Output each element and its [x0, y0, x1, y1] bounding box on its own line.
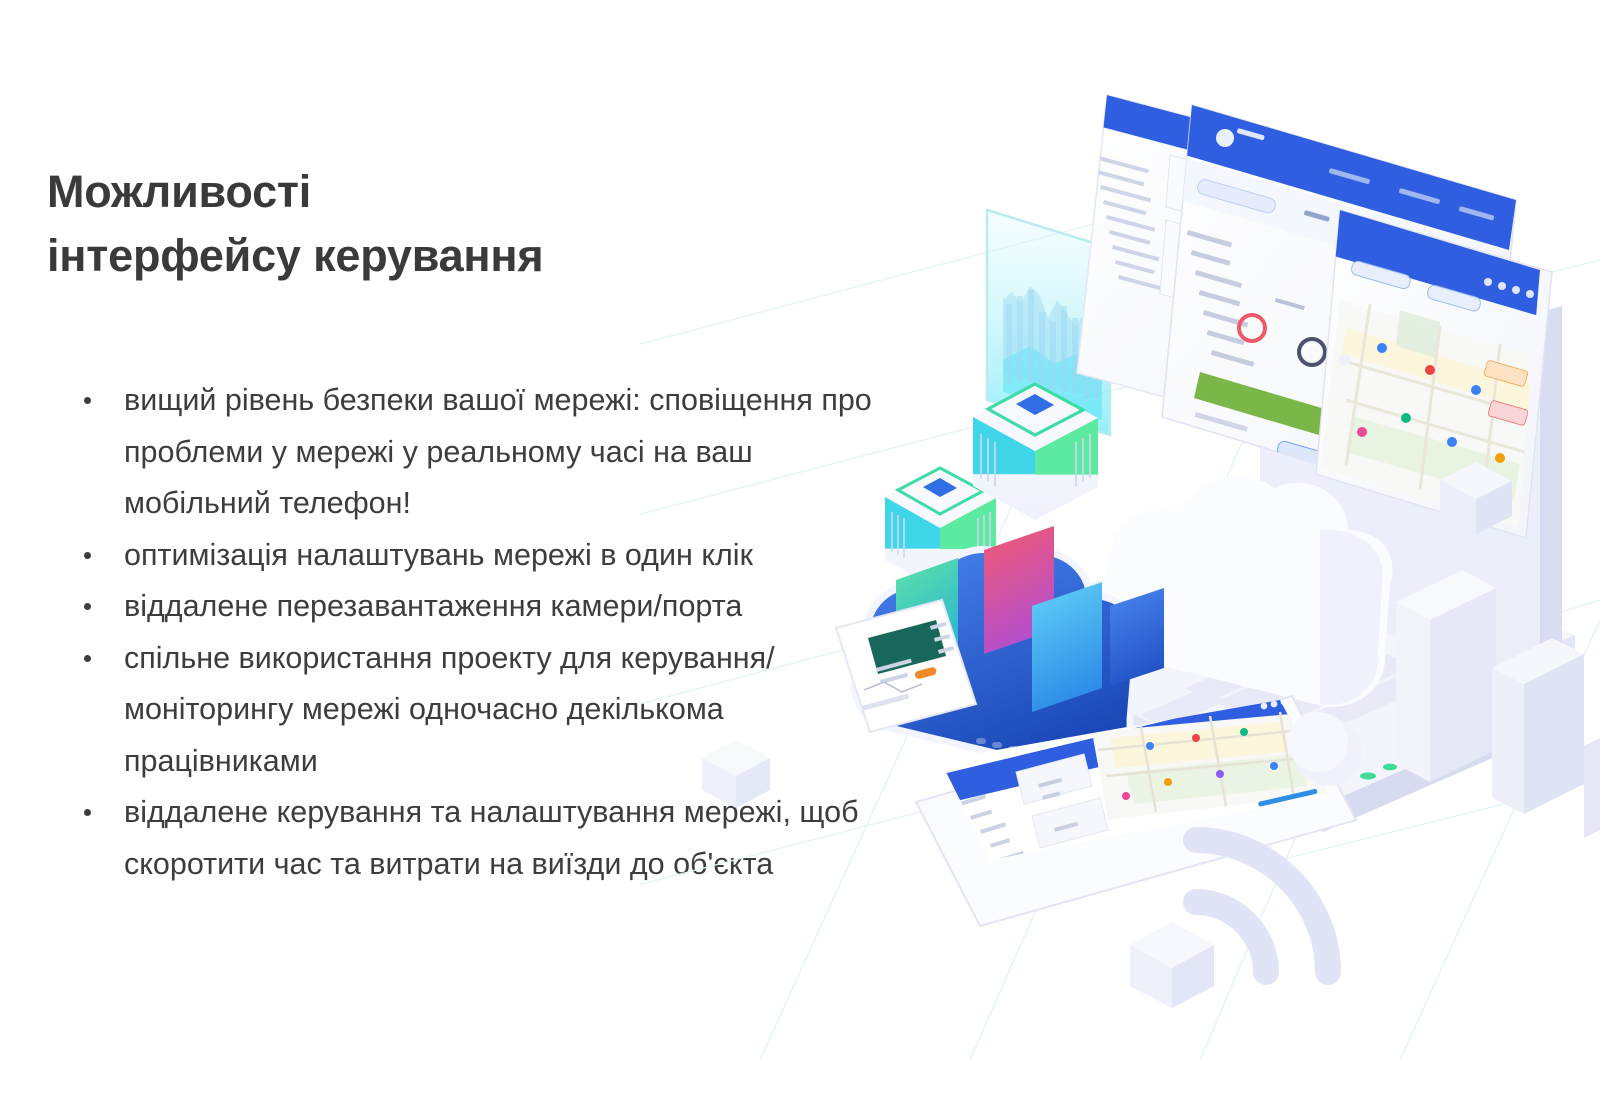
network-management-illustration	[640, 60, 1600, 1060]
bullet-dot-icon	[84, 603, 91, 610]
slide-root: Можливості інтерфейсу керування вищий рі…	[0, 0, 1600, 1106]
bullet-dot-icon	[84, 397, 91, 404]
bullet-dot-icon	[84, 655, 91, 662]
bullet-dot-icon	[84, 552, 91, 559]
bullet-dot-icon	[84, 809, 91, 816]
